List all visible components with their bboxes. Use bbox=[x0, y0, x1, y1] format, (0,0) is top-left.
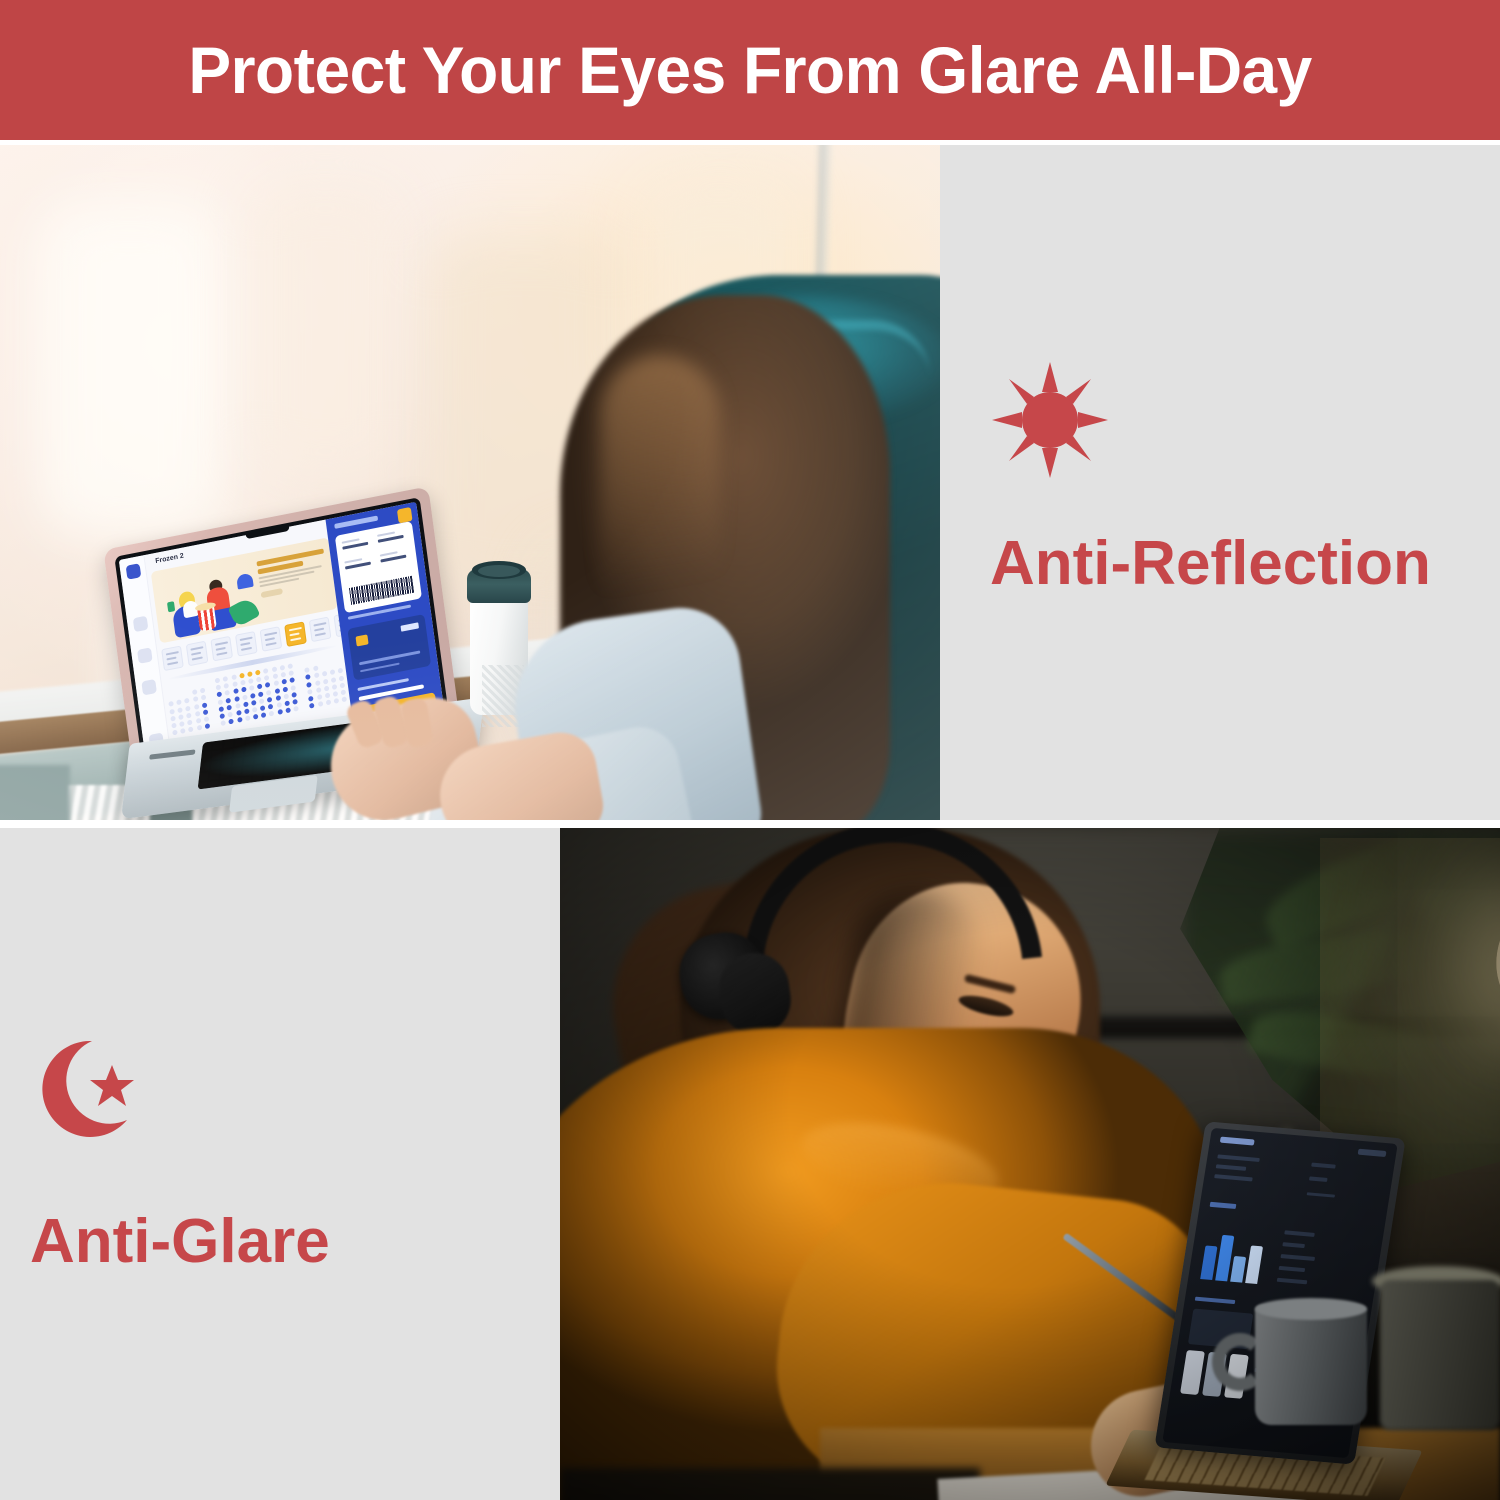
seat[interactable] bbox=[269, 711, 275, 717]
seat[interactable] bbox=[219, 706, 225, 712]
seat[interactable] bbox=[229, 719, 235, 725]
seat[interactable] bbox=[227, 704, 233, 710]
seat[interactable] bbox=[216, 685, 222, 691]
seat[interactable] bbox=[240, 680, 246, 686]
seat[interactable] bbox=[193, 696, 199, 702]
seat[interactable] bbox=[308, 696, 314, 702]
seat[interactable] bbox=[333, 691, 339, 697]
chart-legend-line bbox=[1282, 1242, 1305, 1248]
seat[interactable] bbox=[326, 700, 332, 706]
sidebar-icon-profile bbox=[141, 679, 157, 696]
seat[interactable] bbox=[255, 670, 261, 676]
anti-glare-panel: Anti-Glare bbox=[0, 828, 560, 1500]
seat[interactable] bbox=[322, 671, 328, 677]
barcode bbox=[349, 576, 414, 605]
seat[interactable] bbox=[194, 711, 200, 717]
seat[interactable] bbox=[268, 704, 274, 710]
seat[interactable] bbox=[274, 688, 280, 694]
seat[interactable] bbox=[200, 688, 206, 694]
seat[interactable] bbox=[223, 676, 229, 682]
daytime-laptop-photo: Frozen 2 bbox=[0, 145, 940, 820]
seat[interactable] bbox=[289, 677, 295, 683]
seat[interactable] bbox=[245, 715, 251, 721]
promo-text-block bbox=[256, 548, 328, 598]
seat[interactable] bbox=[264, 675, 270, 681]
seat[interactable] bbox=[171, 723, 177, 729]
seat[interactable] bbox=[252, 707, 258, 713]
seat[interactable] bbox=[324, 685, 330, 691]
card-chip-icon bbox=[355, 634, 368, 646]
seat[interactable] bbox=[260, 705, 266, 711]
chart-legend-line bbox=[1280, 1254, 1315, 1261]
seat[interactable] bbox=[232, 681, 238, 687]
seat[interactable] bbox=[339, 675, 345, 681]
seat[interactable] bbox=[226, 697, 232, 703]
seat[interactable] bbox=[317, 701, 323, 707]
chart-legend-line bbox=[1284, 1230, 1315, 1237]
sidebar-icon-movies bbox=[137, 647, 153, 664]
chart-legend-line bbox=[1279, 1266, 1306, 1272]
seat[interactable] bbox=[290, 685, 296, 691]
bar-chart bbox=[1198, 1220, 1273, 1285]
panel-heading bbox=[334, 515, 378, 528]
anti-glare-label: Anti-Glare bbox=[30, 1211, 330, 1273]
sidebar-icon-tickets bbox=[133, 616, 149, 633]
bar bbox=[1245, 1245, 1263, 1284]
seat[interactable] bbox=[257, 684, 263, 690]
seat[interactable] bbox=[179, 721, 185, 727]
seat[interactable] bbox=[338, 668, 344, 674]
seat[interactable] bbox=[306, 674, 312, 680]
seat[interactable] bbox=[325, 693, 331, 699]
seat[interactable] bbox=[287, 663, 293, 669]
seat[interactable] bbox=[273, 681, 279, 687]
seat[interactable] bbox=[309, 703, 315, 709]
sun-icon bbox=[990, 360, 1431, 485]
anti-reflection-label: Anti-Reflection bbox=[990, 533, 1431, 595]
card-brand-logo bbox=[400, 622, 419, 631]
seat[interactable] bbox=[276, 702, 282, 708]
showtime-option[interactable] bbox=[210, 636, 233, 662]
seat[interactable] bbox=[204, 723, 210, 729]
seat[interactable] bbox=[247, 671, 253, 677]
seat[interactable] bbox=[228, 712, 234, 718]
seat[interactable] bbox=[267, 696, 273, 702]
payment-card bbox=[347, 614, 431, 681]
seat[interactable] bbox=[192, 689, 198, 695]
seat[interactable] bbox=[225, 690, 231, 696]
seat[interactable] bbox=[263, 668, 269, 674]
sidebar-icon-logo bbox=[126, 563, 142, 580]
desk-shadow bbox=[560, 1468, 980, 1500]
seat[interactable] bbox=[253, 714, 259, 720]
seat[interactable] bbox=[176, 700, 182, 706]
seat[interactable] bbox=[184, 698, 190, 704]
seat[interactable] bbox=[256, 677, 262, 683]
seat[interactable] bbox=[234, 696, 240, 702]
seat[interactable] bbox=[170, 715, 176, 721]
bottom-row: Anti-Glare bbox=[0, 828, 1500, 1500]
seat[interactable] bbox=[172, 730, 178, 736]
seat[interactable] bbox=[283, 693, 289, 699]
nighttime-study-photo bbox=[560, 828, 1500, 1500]
seat[interactable] bbox=[271, 666, 277, 672]
seat[interactable] bbox=[185, 705, 191, 711]
seat[interactable] bbox=[258, 691, 264, 697]
seat[interactable] bbox=[224, 683, 230, 689]
seat[interactable] bbox=[231, 674, 237, 680]
seat[interactable] bbox=[177, 707, 183, 713]
mug-rim bbox=[1255, 1298, 1367, 1320]
seat[interactable] bbox=[178, 714, 184, 720]
seat[interactable] bbox=[342, 696, 348, 702]
seat[interactable] bbox=[233, 689, 239, 695]
product-feature-page: Protect Your Eyes From Glare All-Day bbox=[0, 0, 1500, 1500]
seat[interactable] bbox=[277, 709, 283, 715]
seat[interactable] bbox=[315, 680, 321, 686]
crescent-moon-star-icon bbox=[30, 1038, 330, 1163]
seat[interactable] bbox=[204, 716, 210, 722]
seat[interactable] bbox=[259, 698, 265, 704]
illustration-cup bbox=[167, 601, 175, 612]
seat[interactable] bbox=[265, 682, 271, 688]
seat[interactable] bbox=[215, 677, 221, 683]
seat[interactable] bbox=[340, 682, 346, 688]
seat[interactable] bbox=[237, 717, 243, 723]
seat[interactable] bbox=[291, 692, 297, 698]
page-title: Protect Your Eyes From Glare All-Day bbox=[188, 37, 1311, 103]
dashboard-section-title bbox=[1195, 1297, 1236, 1304]
seat[interactable] bbox=[241, 687, 247, 693]
seat[interactable] bbox=[239, 673, 245, 679]
seat[interactable] bbox=[316, 687, 322, 693]
seat[interactable] bbox=[236, 710, 242, 716]
seat[interactable] bbox=[250, 693, 256, 699]
seat[interactable] bbox=[201, 695, 207, 701]
dashboard-text-line bbox=[1214, 1174, 1253, 1181]
dashboard-user-chip bbox=[1358, 1149, 1387, 1157]
seat[interactable] bbox=[314, 673, 320, 679]
showtime-option[interactable] bbox=[186, 641, 209, 667]
seat[interactable] bbox=[195, 718, 201, 724]
coffee-mug bbox=[1255, 1305, 1367, 1425]
seat[interactable] bbox=[323, 678, 329, 684]
seat[interactable] bbox=[169, 708, 175, 714]
dashboard-text-line bbox=[1216, 1164, 1247, 1171]
seat[interactable] bbox=[235, 703, 241, 709]
top-row: Frozen 2 bbox=[0, 145, 1500, 820]
seat[interactable] bbox=[242, 694, 248, 700]
seat[interactable] bbox=[313, 666, 319, 672]
seat[interactable] bbox=[261, 712, 267, 718]
seat[interactable] bbox=[306, 681, 312, 687]
seat[interactable] bbox=[203, 709, 209, 715]
seat[interactable] bbox=[168, 701, 174, 707]
seat[interactable] bbox=[194, 704, 200, 710]
anti-reflection-panel: Anti-Reflection bbox=[940, 145, 1500, 820]
showtime-option[interactable] bbox=[235, 631, 258, 657]
tumbler-rim-inner bbox=[478, 565, 520, 577]
showtime-option[interactable] bbox=[309, 617, 332, 643]
anti-glare-feature: Anti-Glare bbox=[30, 1038, 330, 1273]
seat[interactable] bbox=[218, 699, 224, 705]
ticket-card bbox=[335, 521, 422, 613]
bar bbox=[1230, 1256, 1246, 1283]
showtime-option[interactable] bbox=[260, 626, 283, 652]
seat[interactable] bbox=[188, 727, 194, 733]
seat[interactable] bbox=[288, 670, 294, 676]
showtime-option[interactable] bbox=[161, 645, 184, 671]
desk-leg bbox=[0, 765, 70, 820]
illustration-lamp bbox=[236, 573, 254, 590]
seat[interactable] bbox=[272, 674, 278, 680]
dark-mug bbox=[1380, 1280, 1500, 1430]
seat[interactable] bbox=[280, 672, 286, 678]
chart-legend-line bbox=[1277, 1278, 1308, 1285]
card-number-line bbox=[359, 650, 420, 665]
seat[interactable] bbox=[248, 678, 254, 684]
dashboard-logo bbox=[1220, 1137, 1255, 1146]
seat[interactable] bbox=[202, 702, 208, 708]
dashboard-metric bbox=[1311, 1163, 1336, 1169]
seat[interactable] bbox=[292, 699, 298, 705]
background-blur-shape bbox=[250, 185, 400, 475]
seat[interactable] bbox=[186, 712, 192, 718]
seat[interactable] bbox=[334, 698, 340, 704]
seat[interactable] bbox=[243, 701, 249, 707]
seat[interactable] bbox=[187, 719, 193, 725]
seat[interactable] bbox=[282, 686, 288, 692]
seat[interactable] bbox=[279, 665, 285, 671]
promo-cta-button[interactable] bbox=[261, 588, 283, 598]
seat[interactable] bbox=[217, 692, 223, 698]
seat[interactable] bbox=[244, 708, 250, 714]
seat[interactable] bbox=[293, 706, 299, 712]
panel-badge bbox=[397, 507, 413, 524]
seat[interactable] bbox=[285, 708, 291, 714]
dashboard-tile bbox=[1180, 1350, 1205, 1395]
seat[interactable] bbox=[220, 713, 226, 719]
dashboard-section-title bbox=[1210, 1202, 1237, 1209]
seat[interactable] bbox=[266, 689, 272, 695]
dashboard-metric bbox=[1307, 1192, 1335, 1197]
seat[interactable] bbox=[180, 728, 186, 734]
seat[interactable] bbox=[249, 685, 255, 691]
seat[interactable] bbox=[221, 720, 227, 726]
seat[interactable] bbox=[196, 725, 202, 731]
seat[interactable] bbox=[330, 670, 336, 676]
seat[interactable] bbox=[284, 700, 290, 706]
showtime-option-selected[interactable] bbox=[284, 621, 307, 647]
seat[interactable] bbox=[316, 694, 322, 700]
seat[interactable] bbox=[331, 677, 337, 683]
seat[interactable] bbox=[341, 689, 347, 695]
dashboard-metric bbox=[1309, 1176, 1328, 1182]
seat[interactable] bbox=[275, 695, 281, 701]
dashboard-text-line bbox=[1217, 1154, 1260, 1162]
seat[interactable] bbox=[281, 679, 287, 685]
seat[interactable] bbox=[305, 667, 311, 673]
seat[interactable] bbox=[332, 684, 338, 690]
header-banner: Protect Your Eyes From Glare All-Day bbox=[0, 0, 1500, 140]
anti-reflection-feature: Anti-Reflection bbox=[990, 360, 1431, 595]
seat[interactable] bbox=[251, 700, 257, 706]
background-blur-shape bbox=[40, 205, 220, 535]
seat[interactable] bbox=[307, 689, 313, 695]
